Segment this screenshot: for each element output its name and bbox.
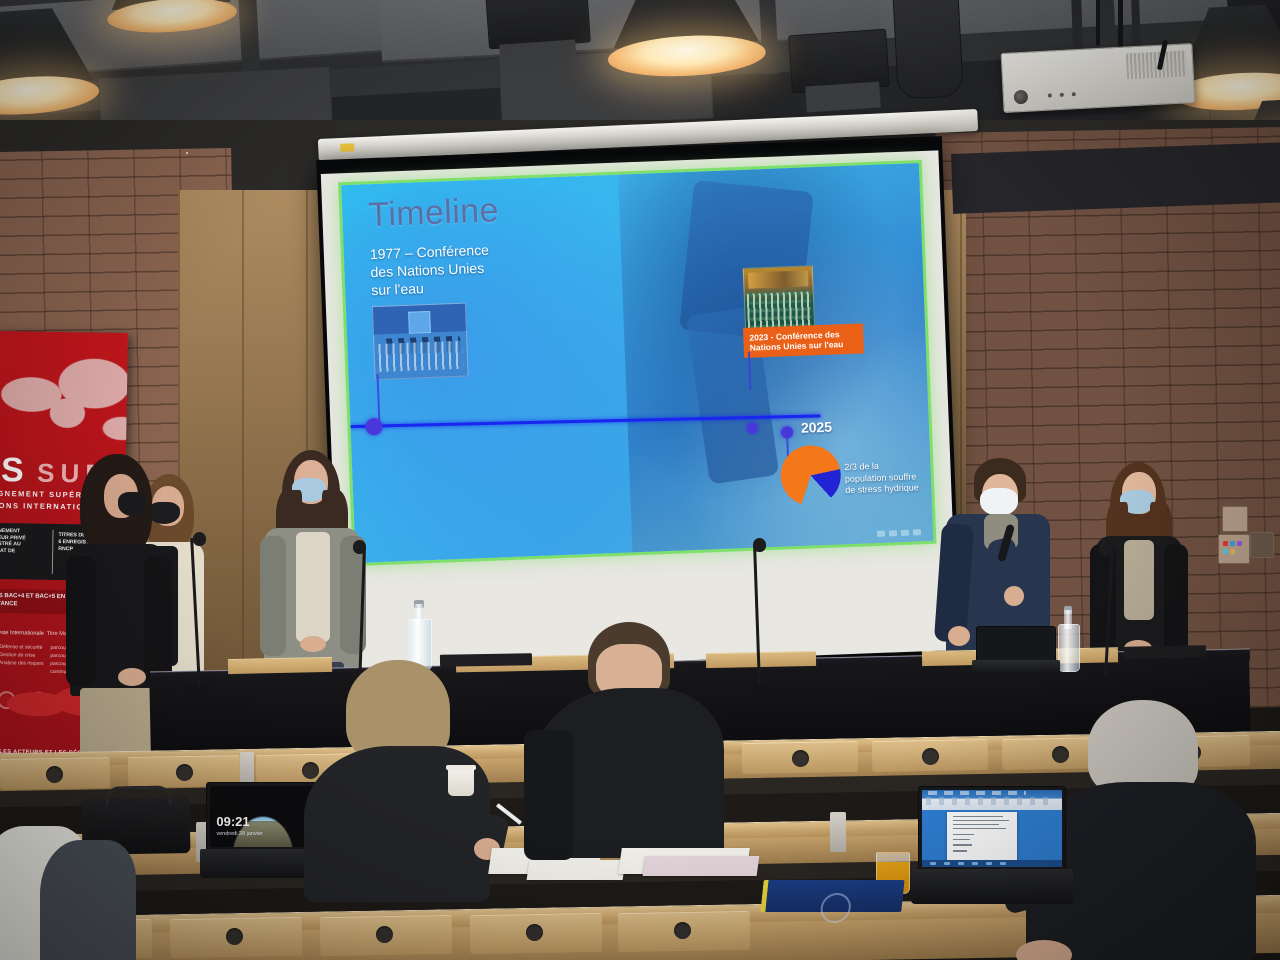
- banner-logo-main: IS: [0, 451, 26, 490]
- table-microphone[interactable]: [188, 538, 210, 688]
- pen-tool-icon[interactable]: [877, 531, 885, 537]
- desk-nameplate: [1124, 645, 1206, 658]
- seat[interactable]: [872, 739, 989, 772]
- word-document-screen[interactable]: [922, 790, 1062, 867]
- event-2023-label: 2023 - Conférence des Nations Unies sur …: [743, 323, 864, 358]
- seat[interactable]: [742, 741, 859, 774]
- lock-screen-date: vendredi 28 janvier: [216, 831, 262, 837]
- table-microphone[interactable]: [748, 544, 770, 686]
- projection-screen: Timeline 1977 – Conférence des Nations U…: [316, 136, 962, 680]
- seat[interactable]: [320, 915, 453, 956]
- blue-yellow-booklet: [760, 880, 904, 912]
- pendant-lamp: [0, 6, 95, 119]
- wall-vent: [1250, 532, 1274, 558]
- coffee-cup: [448, 768, 474, 796]
- seat[interactable]: [170, 917, 303, 958]
- projector-icon: [1001, 43, 1196, 113]
- banner-col1-title: Titre Analyste Internationale: [0, 629, 45, 638]
- audience-1-blonde-note-taker: [300, 660, 510, 900]
- papers: [527, 860, 626, 880]
- banner-strip-left: ENSEIGNEMENT SUPÉRIEUR PRIVÉ ENREGISTRÉ …: [0, 528, 31, 561]
- slide-menu-icon[interactable]: [901, 530, 909, 536]
- seat[interactable]: [0, 757, 110, 790]
- seat[interactable]: [470, 913, 603, 954]
- event-1977-text: 1977 – Conférence des Nations Unies sur …: [370, 239, 572, 300]
- event-1977-photo: [372, 303, 469, 381]
- lock-screen-time: 09:21: [216, 814, 249, 829]
- grid-view-icon[interactable]: [913, 529, 921, 535]
- intercom-panel[interactable]: [1222, 506, 1248, 532]
- event-2025-note: 2/3 de la population souffre de stress h…: [844, 459, 919, 497]
- presenter-laptop[interactable]: [976, 626, 1056, 674]
- event-2023-photo: [743, 265, 815, 332]
- seat[interactable]: [618, 911, 751, 952]
- light-switch-panel[interactable]: [1218, 534, 1250, 564]
- audience-hand-foreground: [950, 930, 1070, 960]
- water-bottle: [1058, 610, 1078, 672]
- audience-4-foreground: [0, 822, 150, 960]
- table-microphone[interactable]: [1094, 548, 1116, 678]
- conference-hall-scene: Timeline 1977 – Conférence des Nations U…: [0, 0, 1280, 960]
- hanging-speaker: [892, 0, 964, 100]
- audience-2-dark-suit: [530, 622, 730, 862]
- slide-canvas: Timeline 1977 – Conférence des Nations U…: [341, 163, 933, 563]
- event-2025-year: 2025: [801, 419, 833, 436]
- pendant-lamp: [609, 0, 761, 80]
- audience-laptop-document[interactable]: [918, 786, 1066, 904]
- pointer-tool-icon[interactable]: [889, 530, 897, 536]
- papers: [643, 856, 760, 876]
- slide-title: Timeline: [368, 191, 500, 235]
